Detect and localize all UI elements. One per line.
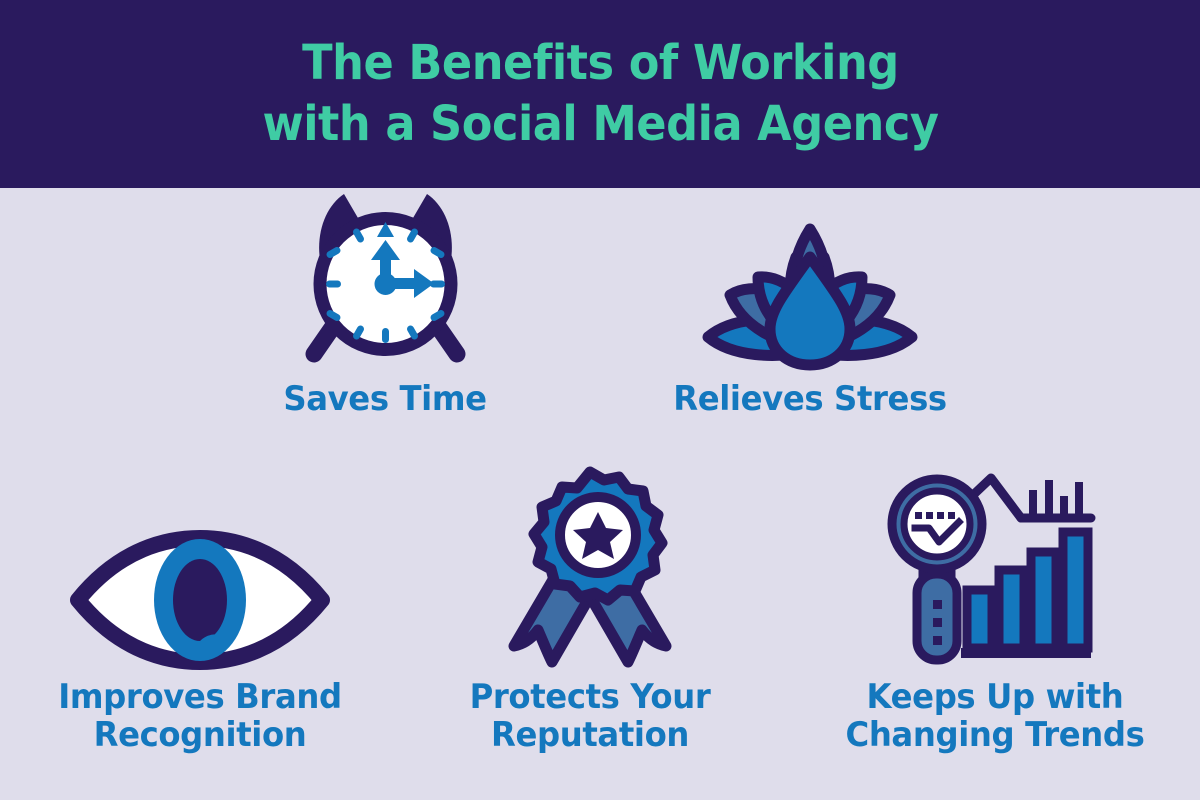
award-ribbon-icon	[504, 468, 676, 668]
benefit-item-changing-trends: Keeps Up with Changing Trends	[805, 446, 1185, 755]
icon-container	[410, 448, 770, 668]
benefit-item-relieves-stress: Relieves Stress	[640, 188, 980, 418]
benefit-label: Improves Brand Recognition	[29, 678, 371, 755]
bar-chart-bars	[967, 532, 1088, 648]
lotus-flower-icon	[696, 205, 924, 370]
benefit-label: Saves Time	[224, 380, 547, 418]
infographic-poster: The Benefits of Working with a Social Me…	[0, 0, 1200, 800]
benefit-label: Relieves Stress	[649, 380, 972, 418]
page-title: The Benefits of Working with a Social Me…	[225, 33, 975, 156]
benefit-label: Keeps Up with Changing Trends	[815, 678, 1176, 755]
magnifier-bar-chart-icon	[895, 470, 1095, 668]
benefit-item-saves-time: Saves Time	[215, 188, 555, 418]
icon-container	[215, 188, 555, 370]
icon-container	[640, 188, 980, 370]
trend-line-small-bars	[1029, 480, 1083, 518]
icon-container	[20, 468, 380, 668]
header-band: The Benefits of Working with a Social Me…	[0, 0, 1200, 188]
eye-icon	[72, 532, 328, 668]
benefit-label: Protects Your Reputation	[419, 678, 761, 755]
benefit-item-brand-recognition: Improves Brand Recognition	[20, 468, 380, 755]
alarm-clock-icon	[298, 188, 473, 370]
benefits-grid: Saves Time	[0, 188, 1200, 800]
benefit-item-reputation: Protects Your Reputation	[410, 448, 770, 755]
icon-container	[805, 446, 1185, 668]
